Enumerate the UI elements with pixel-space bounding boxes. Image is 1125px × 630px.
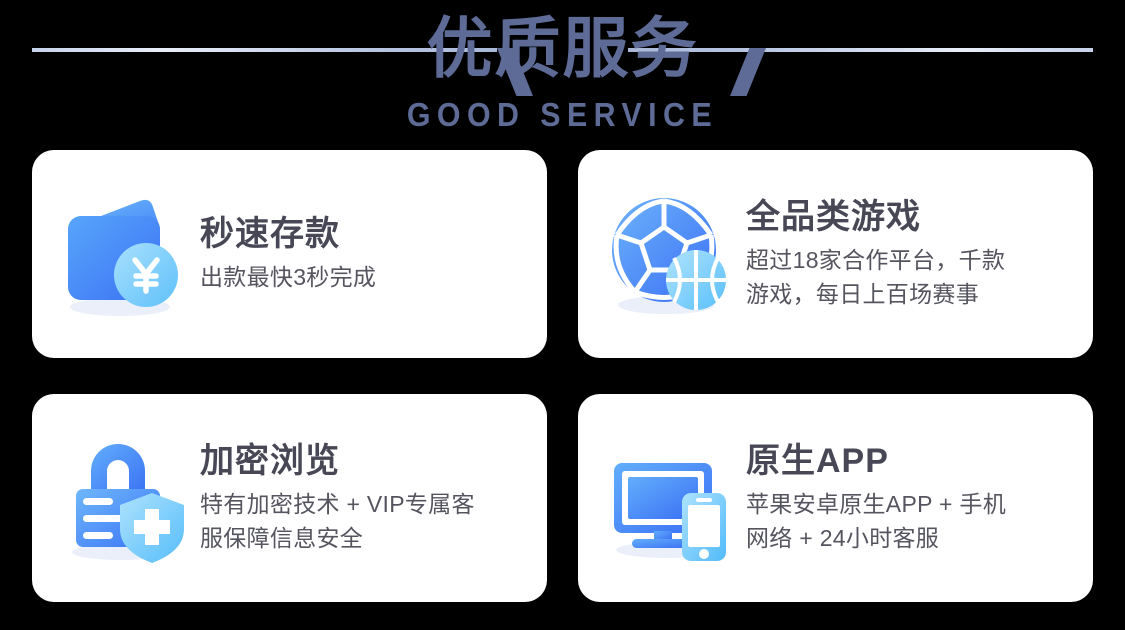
card-text-block: 全品类游戏 超过18家合作平台，千款 游戏，每日上百场赛事 (742, 197, 1071, 311)
card-icon-slot (604, 179, 742, 329)
feature-card-grid: 秒速存款 出款最快3秒完成 (32, 150, 1093, 600)
card-icon-slot (58, 179, 196, 329)
card-subtitle-line: 服保障信息安全 (200, 521, 525, 555)
card-subtitle-line: 游戏，每日上百场赛事 (746, 277, 1071, 311)
wallet-yen-icon (58, 179, 196, 329)
page-subtitle: GOOD SERVICE (45, 97, 1080, 133)
card-subtitle: 超过18家合作平台，千款 游戏，每日上百场赛事 (746, 243, 1071, 311)
feature-card-all-games[interactable]: 全品类游戏 超过18家合作平台，千款 游戏，每日上百场赛事 (578, 150, 1093, 358)
soccer-basketball-icon (604, 179, 742, 329)
feature-card-instant-deposit[interactable]: 秒速存款 出款最快3秒完成 (32, 150, 547, 358)
feature-card-native-app[interactable]: 原生APP 苹果安卓原生APP + 手机 网络 + 24小时客服 (578, 394, 1093, 602)
card-subtitle: 特有加密技术 + VIP专属客 服保障信息安全 (200, 487, 525, 555)
card-subtitle: 出款最快3秒完成 (200, 260, 525, 294)
page-title: 优质服务 (0, 11, 1125, 85)
card-text-block: 加密浏览 特有加密技术 + VIP专属客 服保障信息安全 (196, 441, 525, 555)
card-subtitle-line: 特有加密技术 + VIP专属客 (200, 487, 525, 521)
promo-banner: 优质服务 GOOD SERVICE (0, 0, 1125, 630)
card-icon-slot (604, 423, 742, 573)
card-title: 全品类游戏 (746, 197, 1071, 237)
card-title: 原生APP (746, 441, 1071, 481)
padlock-shield-icon (58, 423, 196, 573)
card-text-block: 秒速存款 出款最快3秒完成 (196, 214, 525, 294)
monitor-phone-icon (604, 423, 742, 573)
card-subtitle-line: 网络 + 24小时客服 (746, 521, 1071, 555)
card-text-block: 原生APP 苹果安卓原生APP + 手机 网络 + 24小时客服 (742, 441, 1071, 555)
card-subtitle-line: 苹果安卓原生APP + 手机 (746, 487, 1071, 521)
card-title: 加密浏览 (200, 441, 525, 481)
card-subtitle: 苹果安卓原生APP + 手机 网络 + 24小时客服 (746, 487, 1071, 555)
card-subtitle-line: 超过18家合作平台，千款 (746, 243, 1071, 277)
feature-card-encrypted-browsing[interactable]: 加密浏览 特有加密技术 + VIP专属客 服保障信息安全 (32, 394, 547, 602)
card-subtitle-line: 出款最快3秒完成 (200, 260, 525, 294)
card-title: 秒速存款 (200, 214, 525, 254)
banner-header: 优质服务 GOOD SERVICE (0, 0, 1125, 145)
card-icon-slot (58, 423, 196, 573)
